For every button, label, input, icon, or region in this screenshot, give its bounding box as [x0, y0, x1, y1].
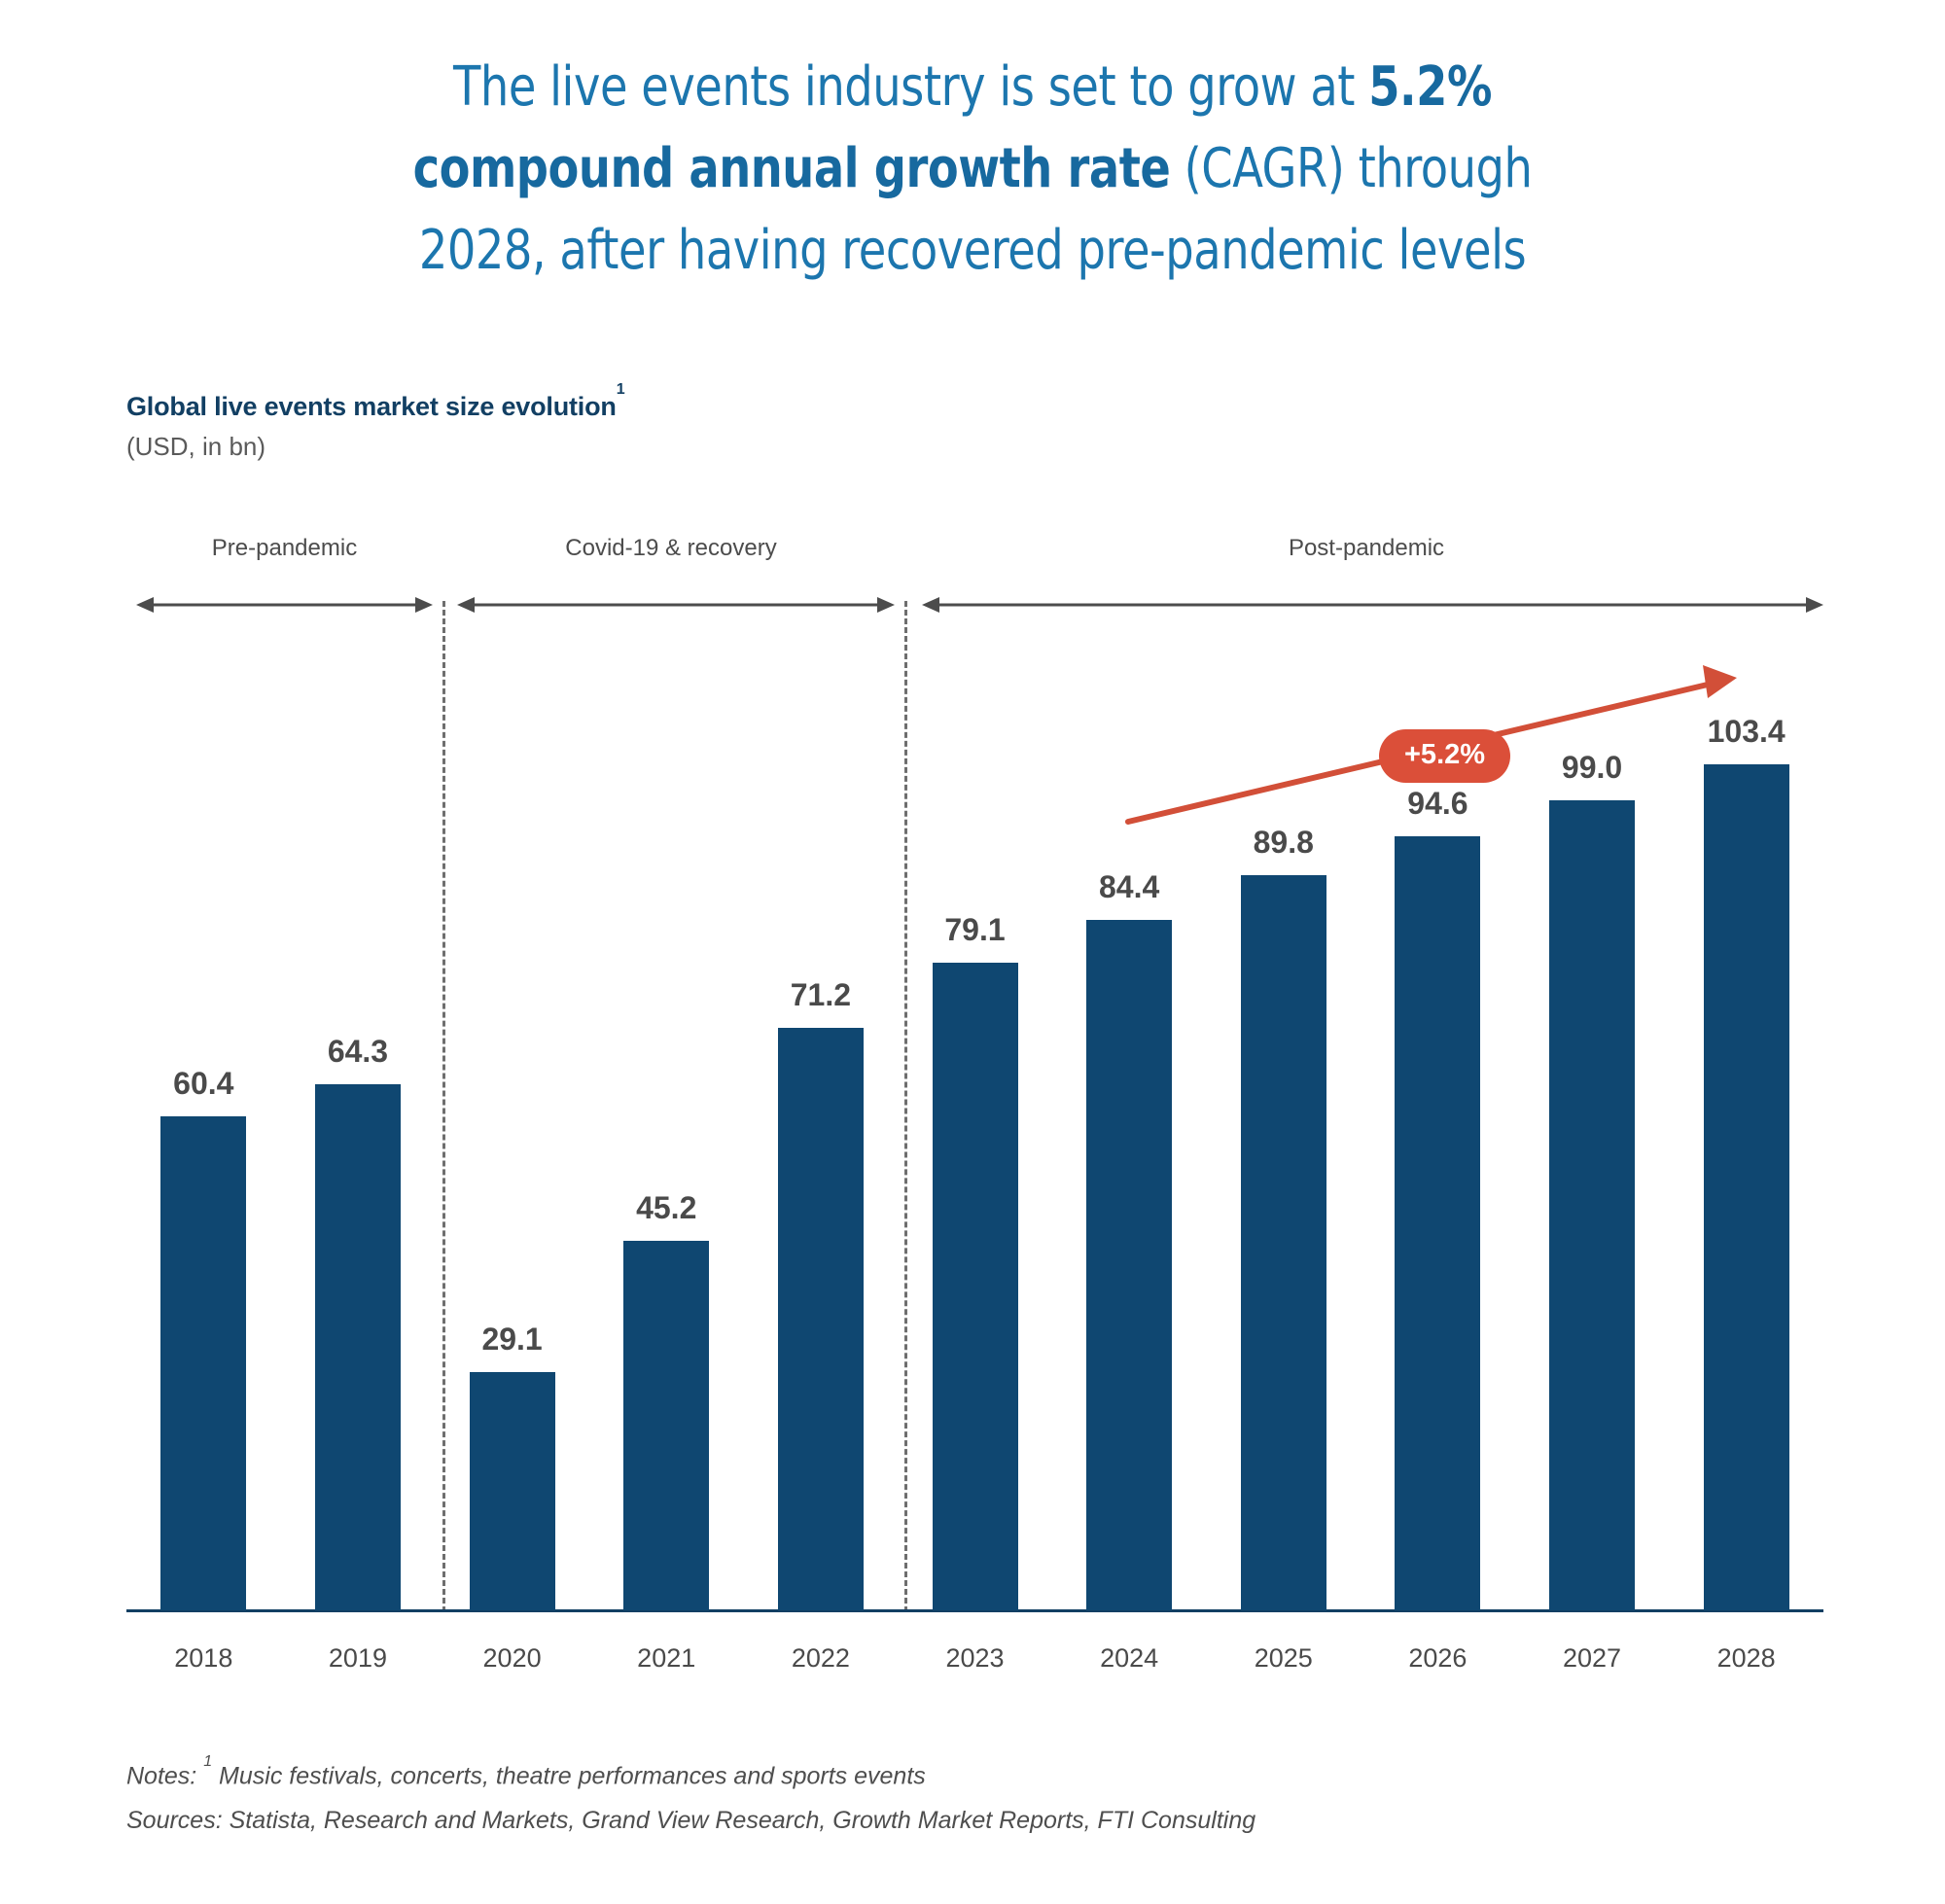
cagr-badge: +5.2% [1379, 729, 1510, 783]
footnote-sources: Sources: Statista, Research and Markets,… [126, 1807, 1255, 1835]
footnote-notes-prefix: Notes: [126, 1762, 203, 1789]
footnote-marker: 1 [203, 1753, 212, 1770]
footnote-notes-text: Music festivals, concerts, theatre perfo… [212, 1762, 926, 1789]
footnote-notes: Notes: 1 Music festivals, concerts, thea… [126, 1762, 926, 1790]
cagr-trend-arrow [0, 0, 1945, 1904]
infographic-canvas: The live events industry is set to grow … [0, 0, 1945, 1904]
